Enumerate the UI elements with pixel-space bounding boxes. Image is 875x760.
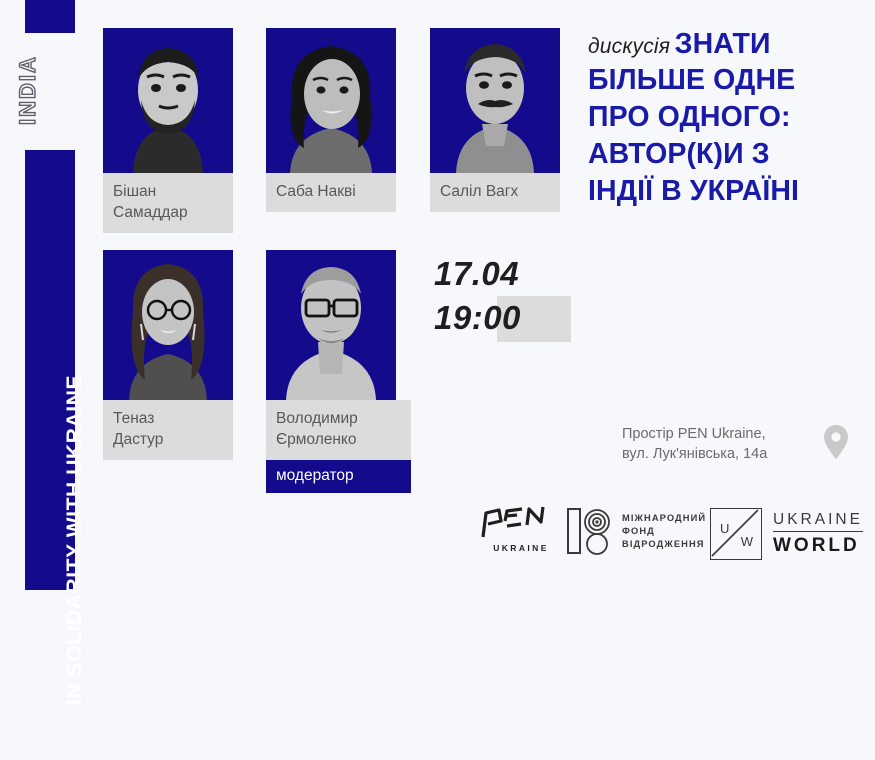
location-pin-icon	[822, 424, 850, 460]
irf-line-1: МІЖНАРОДНИЙ	[622, 512, 706, 525]
speaker-name-line2: Єрмоленко	[276, 429, 401, 450]
title-line-4: АВТОР(К)И З	[588, 137, 868, 172]
uw-letter-w: W	[741, 534, 753, 549]
irf-wordmark: МІЖНАРОДНИЙ ФОНД ВІДРОДЖЕННЯ	[622, 512, 706, 551]
logo-pen-ukraine: UKRAINE	[477, 504, 553, 553]
title-kicker: дискусія	[588, 35, 670, 58]
speaker-card: Саба Накві	[266, 28, 396, 212]
country-label: INDIA	[0, 40, 78, 140]
speaker-name-line1: Бішан	[113, 181, 223, 202]
portrait-illustration	[430, 28, 560, 173]
title-line-3: ПРО ОДНОГО:	[588, 100, 868, 135]
pen-wordmark-icon	[477, 504, 553, 540]
uw-mark-icon: U W	[710, 508, 762, 560]
solidarity-slogan: IN SOLIDARITY WITH UKRAINE	[50, 320, 100, 760]
title-line-2: БІЛЬШЕ ОДНЕ	[588, 63, 868, 98]
uw-wordmark: UKRAINE WORLD	[773, 511, 863, 557]
speaker-card: Володимир Єрмоленко модератор	[266, 250, 411, 493]
speaker-name-line1: Саба Накві	[276, 181, 386, 202]
speaker-name: Володимир Єрмоленко	[266, 400, 411, 460]
sponsor-logos: UKRAINE МІЖНАРОДНИЙ ФОНД ВІДРОДЖЕННЯ	[460, 498, 860, 568]
portrait-illustration	[266, 250, 396, 400]
speaker-name: Саба Накві	[266, 173, 396, 212]
irf-line-2: ФОНД	[622, 525, 706, 538]
event-poster: INDIA IN SOLIDARITY WITH UKRAINE	[0, 0, 875, 590]
uw-letter-u: U	[720, 521, 729, 536]
speaker-photo	[103, 28, 233, 173]
portrait-illustration	[103, 28, 233, 173]
uw-diagonal-icon	[710, 508, 760, 558]
speaker-name-line2: Самаддар	[113, 202, 223, 223]
speaker-photo	[266, 28, 396, 173]
speaker-card: Теназ Дастур	[103, 250, 233, 460]
rail-accent-block-top	[25, 0, 75, 33]
speaker-name: Бішан Самаддар	[103, 173, 233, 233]
speaker-name-line2: Дастур	[113, 429, 223, 450]
speaker-name: Теназ Дастур	[103, 400, 233, 460]
portrait-illustration	[103, 250, 233, 400]
speaker-photo	[266, 250, 396, 400]
event-title: дискусія ЗНАТИ БІЛЬШЕ ОДНЕ ПРО ОДНОГО: А…	[588, 28, 868, 209]
logo-ukraine-world: U W UKRAINE WORLD	[710, 508, 863, 560]
speaker-name-line1: Володимир	[276, 408, 401, 429]
irf-line-3: ВІДРОДЖЕННЯ	[622, 538, 706, 551]
title-line-5: ІНДІЇ В УКРАЇНІ	[588, 174, 868, 209]
speaker-card: Саліл Вагх	[430, 28, 560, 212]
pen-sublabel: UKRAINE	[477, 543, 553, 553]
speaker-name-line1: Саліл Вагх	[440, 181, 550, 202]
event-datetime: 17.04 19:00	[434, 252, 521, 340]
speaker-photo	[430, 28, 560, 173]
left-rail: INDIA IN SOLIDARITY WITH UKRAINE	[0, 0, 100, 590]
title-first-row: дискусія ЗНАТИ	[588, 28, 868, 61]
speaker-photo	[103, 250, 233, 400]
rail-accent-block-bottom: IN SOLIDARITY WITH UKRAINE	[25, 150, 75, 590]
portrait-illustration	[266, 28, 396, 173]
event-time: 19:00	[434, 296, 521, 340]
title-line-1: ЗНАТИ	[675, 28, 771, 60]
event-date: 17.04	[434, 252, 521, 296]
irf-mark-icon	[567, 506, 613, 556]
speaker-name: Саліл Вагх	[430, 173, 560, 212]
moderator-badge: модератор	[266, 460, 411, 493]
speaker-card: Бішан Самаддар	[103, 28, 233, 233]
uw-line-1: UKRAINE	[773, 511, 863, 532]
speaker-name-line1: Теназ	[113, 408, 223, 429]
uw-line-2: WORLD	[773, 532, 863, 557]
logo-irf: МІЖНАРОДНИЙ ФОНД ВІДРОДЖЕННЯ	[567, 506, 706, 556]
